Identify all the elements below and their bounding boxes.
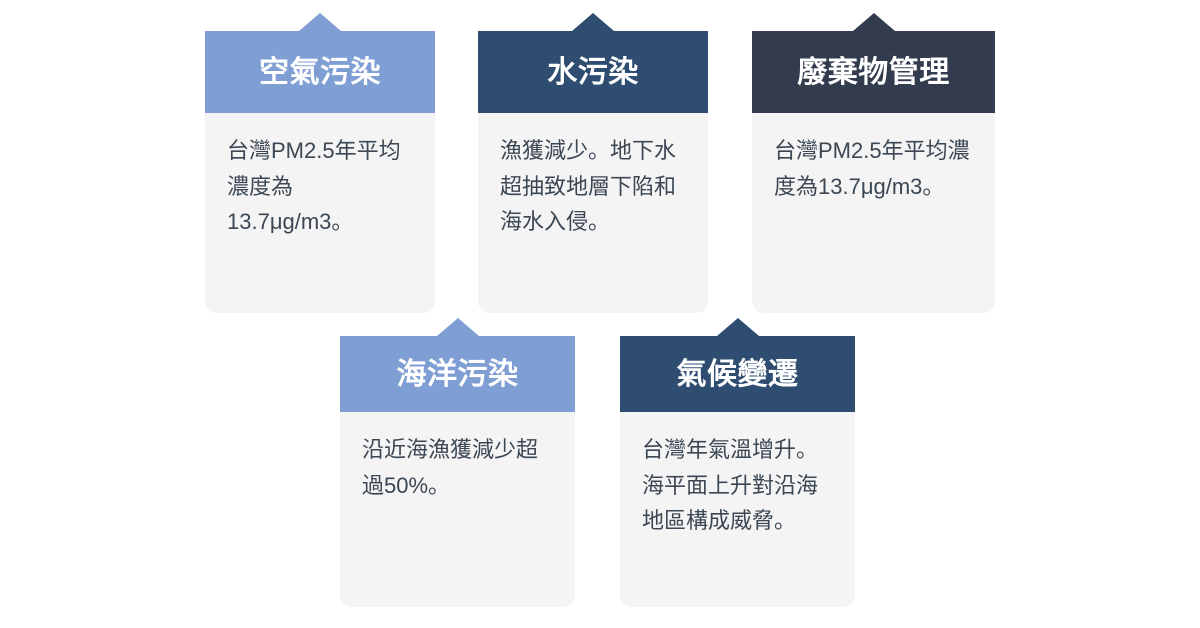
card-notch-triangle-icon bbox=[437, 318, 479, 336]
card-title-air-pollution: 空氣污染 bbox=[259, 56, 381, 89]
card-text-waste-management: 台灣PM2.5年平均濃度為13.7μg/m3。 bbox=[774, 133, 973, 204]
card-marine-pollution[interactable]: 海洋污染沿近海漁獲減少超過50%。 bbox=[340, 318, 575, 607]
card-climate-change[interactable]: 氣候變遷台灣年氣溫增升。海平面上升對沿海地區構成威脅。 bbox=[620, 318, 855, 607]
card-title-water-pollution: 水污染 bbox=[547, 56, 639, 89]
card-text-climate-change: 台灣年氣溫增升。海平面上升對沿海地區構成威脅。 bbox=[642, 432, 833, 539]
card-body-marine-pollution: 沿近海漁獲減少超過50%。 bbox=[340, 412, 575, 607]
card-body-climate-change: 台灣年氣溫增升。海平面上升對沿海地區構成威脅。 bbox=[620, 412, 855, 607]
card-title-waste-management: 廢棄物管理 bbox=[797, 56, 950, 89]
card-text-air-pollution: 台灣PM2.5年平均濃度為13.7μg/m3。 bbox=[227, 133, 413, 240]
card-text-water-pollution: 漁獲減少。地下水超抽致地層下陷和海水入侵。 bbox=[500, 133, 686, 240]
card-water-pollution[interactable]: 水污染漁獲減少。地下水超抽致地層下陷和海水入侵。 bbox=[478, 13, 708, 313]
card-notch-triangle-icon bbox=[299, 13, 341, 31]
card-notch-triangle-icon bbox=[572, 13, 614, 31]
card-notch-triangle-icon bbox=[717, 318, 759, 336]
card-header-waste-management[interactable]: 廢棄物管理 bbox=[752, 31, 995, 113]
card-title-climate-change: 氣候變遷 bbox=[677, 358, 799, 391]
card-body-air-pollution: 台灣PM2.5年平均濃度為13.7μg/m3。 bbox=[205, 113, 435, 313]
card-header-climate-change[interactable]: 氣候變遷 bbox=[620, 336, 855, 412]
diagram-canvas: 空氣污染台灣PM2.5年平均濃度為13.7μg/m3。水污染漁獲減少。地下水超抽… bbox=[0, 0, 1200, 628]
card-header-water-pollution[interactable]: 水污染 bbox=[478, 31, 708, 113]
card-header-air-pollution[interactable]: 空氣污染 bbox=[205, 31, 435, 113]
card-title-marine-pollution: 海洋污染 bbox=[397, 358, 519, 391]
card-header-marine-pollution[interactable]: 海洋污染 bbox=[340, 336, 575, 412]
card-body-waste-management: 台灣PM2.5年平均濃度為13.7μg/m3。 bbox=[752, 113, 995, 313]
card-body-water-pollution: 漁獲減少。地下水超抽致地層下陷和海水入侵。 bbox=[478, 113, 708, 313]
card-waste-management[interactable]: 廢棄物管理台灣PM2.5年平均濃度為13.7μg/m3。 bbox=[752, 13, 995, 313]
card-air-pollution[interactable]: 空氣污染台灣PM2.5年平均濃度為13.7μg/m3。 bbox=[205, 13, 435, 313]
card-text-marine-pollution: 沿近海漁獲減少超過50%。 bbox=[362, 432, 553, 503]
card-notch-triangle-icon bbox=[853, 13, 895, 31]
